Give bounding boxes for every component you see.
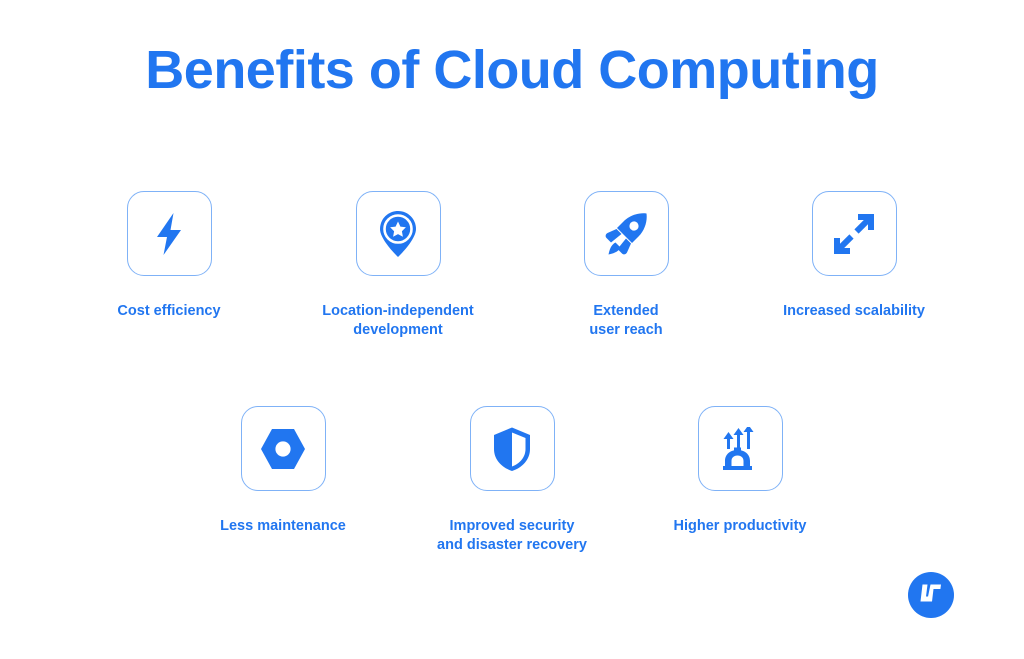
infographic-slide: Benefits of Cloud Computing Cost efficie…: [0, 0, 1024, 659]
growth-arrows-arch-icon: [717, 427, 763, 471]
benefit-item-cost-efficiency: Cost efficiency: [69, 191, 269, 321]
icon-box: [356, 191, 441, 276]
benefit-label: Improved security and disaster recovery: [437, 517, 587, 555]
benefit-label: Higher productivity: [674, 517, 807, 536]
brand-logo: [908, 572, 954, 618]
icon-box: [812, 191, 897, 276]
benefit-item-improved-security: Improved security and disaster recovery: [412, 406, 612, 555]
icon-box: [241, 406, 326, 491]
benefit-label: Extended user reach: [589, 302, 662, 340]
benefit-item-extended-user-reach: Extended user reach: [526, 191, 726, 340]
expand-arrows-icon: [832, 212, 876, 256]
location-pin-star-icon: [377, 210, 419, 258]
benefit-item-higher-productivity: Higher productivity: [640, 406, 840, 536]
rocket-icon: [603, 211, 649, 257]
icon-box: [470, 406, 555, 491]
icon-box: [698, 406, 783, 491]
benefit-label: Location-independent development: [322, 302, 473, 340]
hex-nut-icon: [259, 427, 307, 471]
benefit-item-less-maintenance: Less maintenance: [183, 406, 383, 536]
benefit-label: Increased scalability: [783, 302, 925, 321]
page-title: Benefits of Cloud Computing: [0, 38, 1024, 102]
shield-icon: [492, 426, 532, 472]
brand-logo-mark-icon: [920, 583, 942, 608]
benefit-item-location-independent-development: Location-independent development: [298, 191, 498, 340]
lightning-bolt-icon: [149, 211, 189, 257]
benefit-label: Less maintenance: [220, 517, 346, 536]
icon-box: [127, 191, 212, 276]
benefit-label: Cost efficiency: [117, 302, 220, 321]
benefit-item-increased-scalability: Increased scalability: [754, 191, 954, 321]
icon-box: [584, 191, 669, 276]
